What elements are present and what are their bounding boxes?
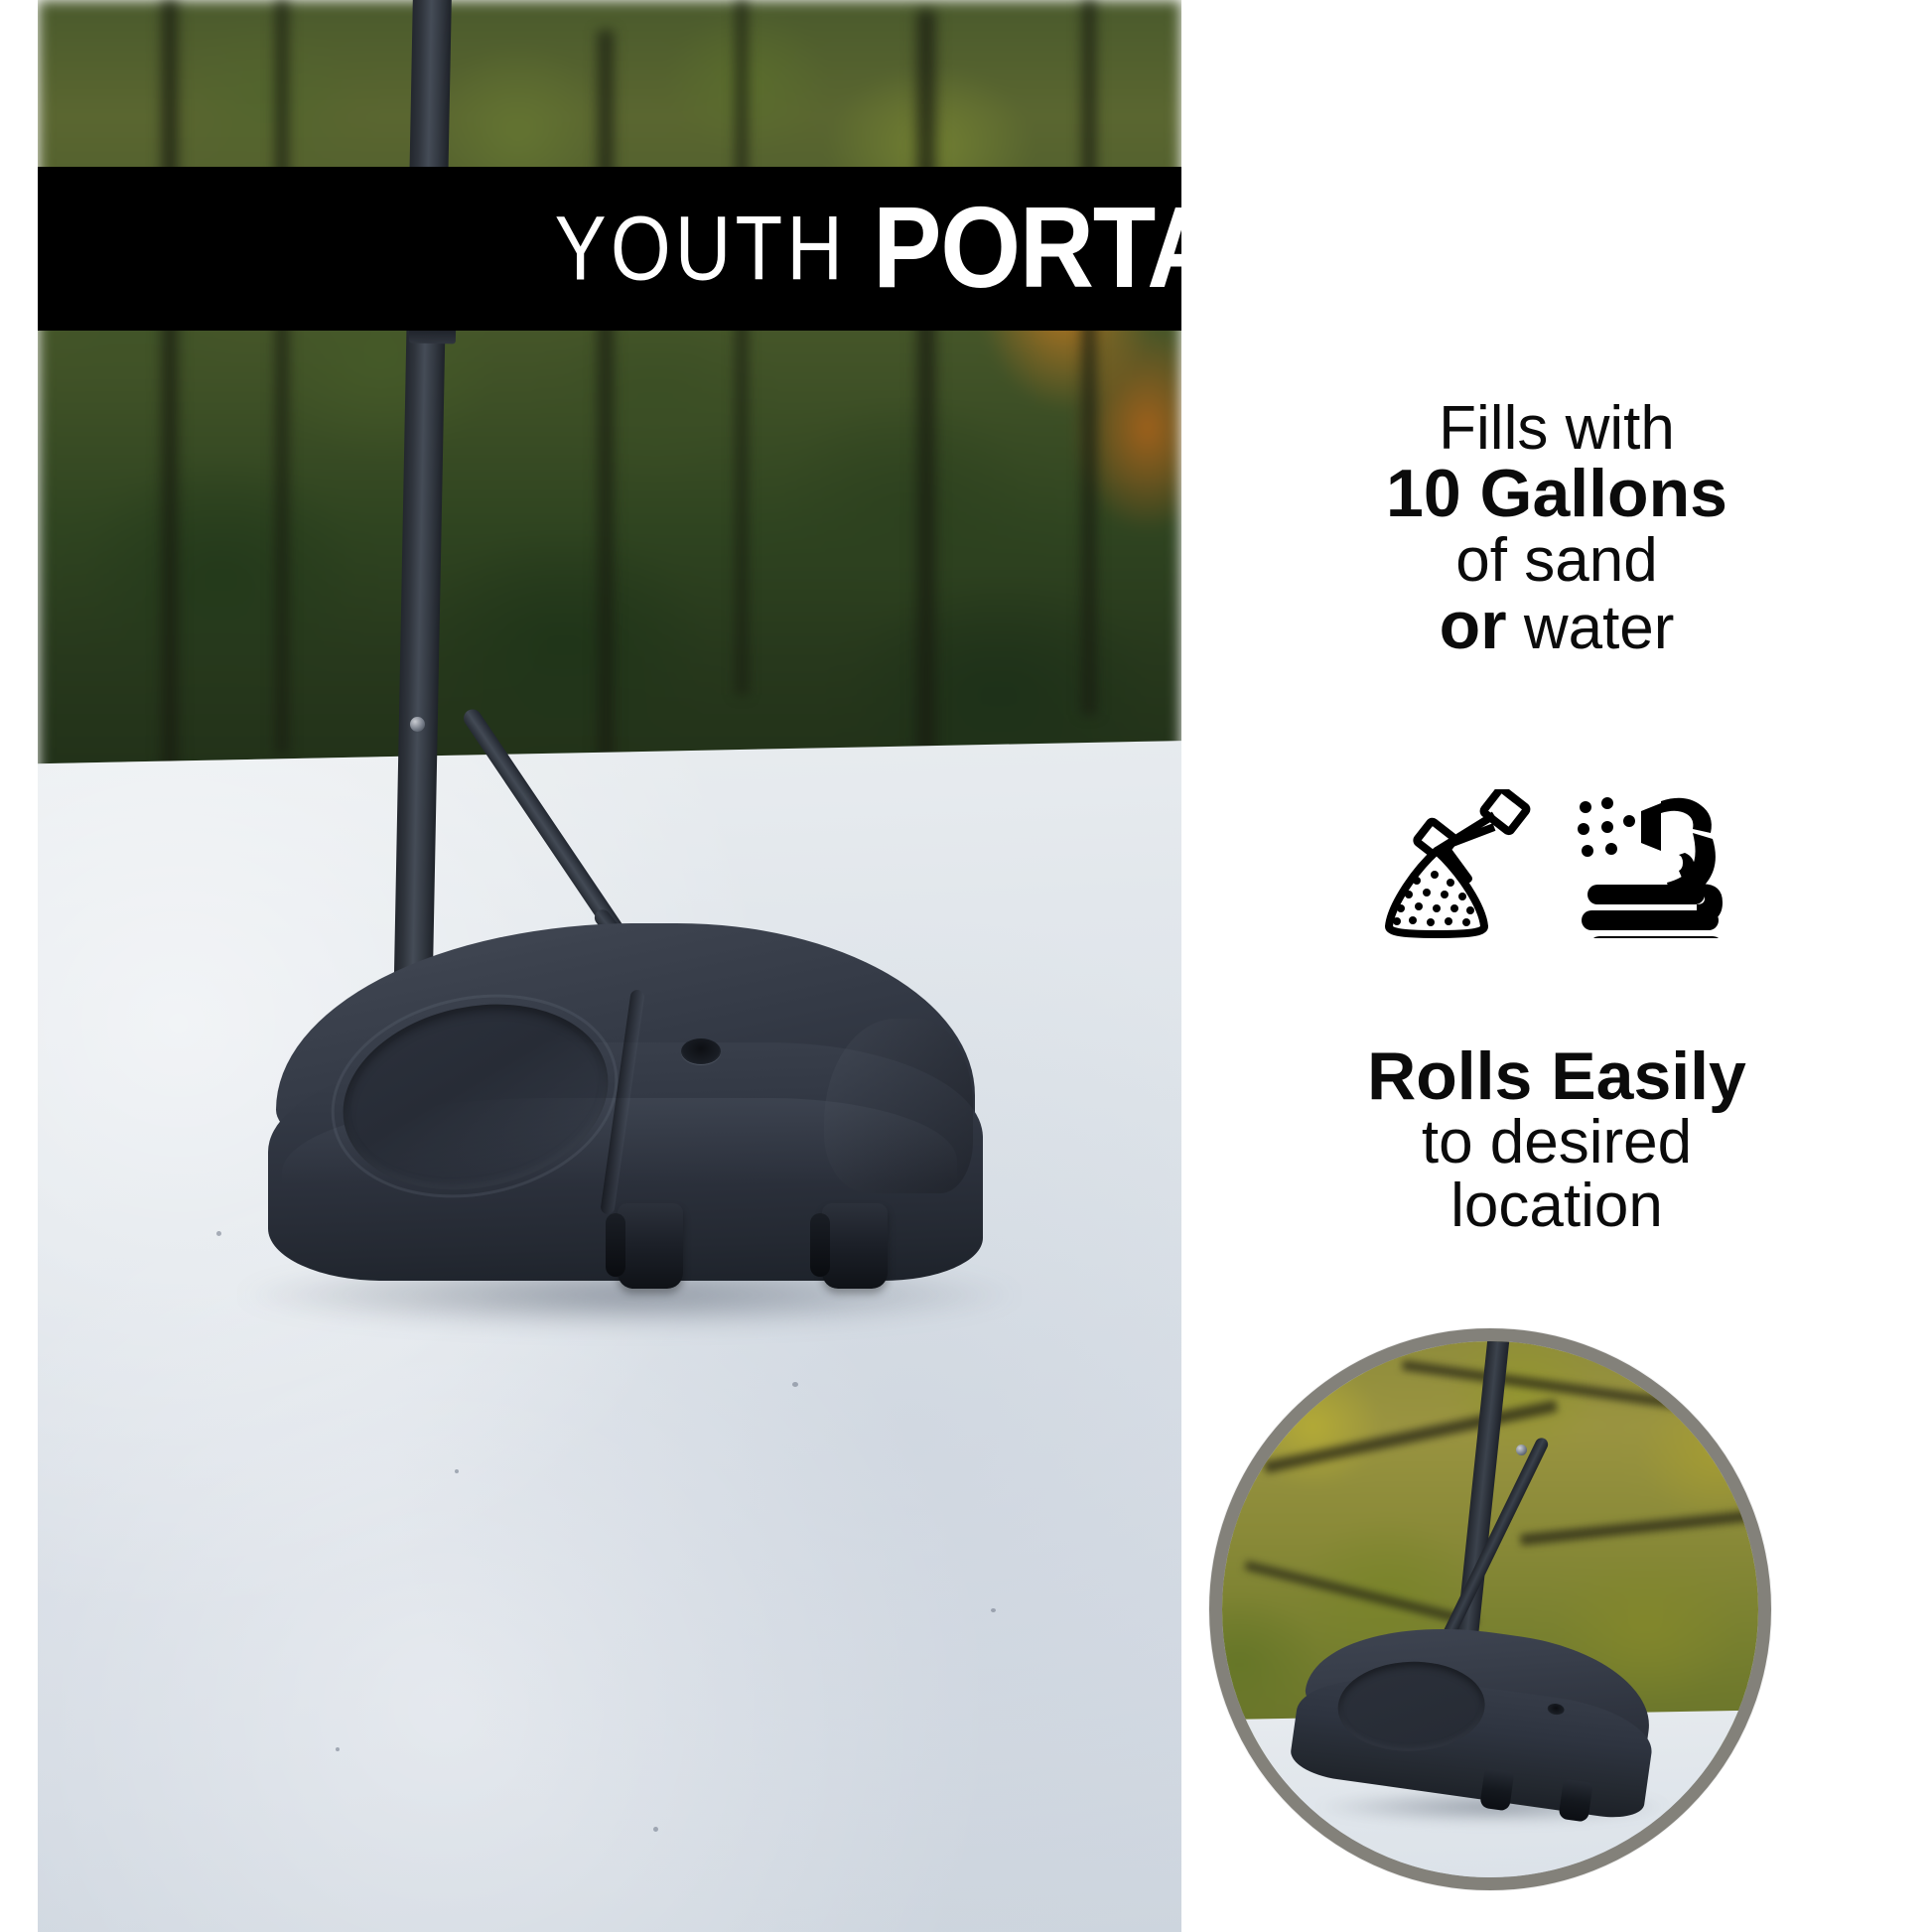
concrete-speck: [336, 1747, 340, 1751]
fill-line-2: 10 Gallons: [1181, 460, 1932, 528]
tree-trunk: [157, 0, 183, 784]
sand-pile-shovel-icon: [1377, 789, 1548, 938]
feature-fill-capacity: Fills with 10 Gallons of sand or water: [1181, 397, 1932, 660]
base-wheel: [618, 1203, 683, 1289]
concrete-speck: [792, 1382, 798, 1387]
base-wheel: [822, 1203, 888, 1289]
concrete-speck: [216, 1231, 221, 1236]
fill-line-3: of sand: [1181, 529, 1932, 592]
strut-bolt: [410, 717, 425, 732]
tree-trunk: [911, 10, 941, 764]
fill-plug-cap: [681, 1038, 721, 1064]
concrete-speck: [455, 1469, 459, 1473]
inset-base-wheel: [1558, 1779, 1592, 1823]
feature-mobility: Rolls Easily to desired location: [1181, 1042, 1932, 1237]
fill-line-1: Fills with: [1181, 397, 1932, 460]
inset-photo: [1209, 1328, 1771, 1890]
tree-trunk: [594, 30, 618, 764]
banner-prefix: YOUTH: [555, 202, 847, 293]
roll-line-2: to desired: [1181, 1111, 1932, 1173]
concrete-speck: [991, 1608, 996, 1612]
fill-line-4-regular: water: [1524, 594, 1675, 662]
inset-base-wheel: [1479, 1768, 1514, 1812]
roll-line-3: location: [1181, 1174, 1932, 1237]
tree-trunk: [272, 0, 292, 755]
concrete-speck: [653, 1827, 658, 1832]
fill-line-4: or water: [1181, 592, 1932, 660]
inset-strut-bolt: [1516, 1445, 1527, 1455]
portable-base: [268, 923, 983, 1281]
tree-trunk: [1078, 0, 1100, 715]
garden-hose-nozzle-icon: [1578, 789, 1736, 938]
product-feature-graphic: YOUTH PORTABLE BASE Fills with 10 Gallon…: [0, 0, 1932, 1932]
fill-medium-icons: [1181, 774, 1932, 953]
tree-trunk: [733, 0, 751, 695]
fill-line-4-bold: or: [1440, 588, 1507, 663]
roll-line-1: Rolls Easily: [1181, 1042, 1932, 1111]
